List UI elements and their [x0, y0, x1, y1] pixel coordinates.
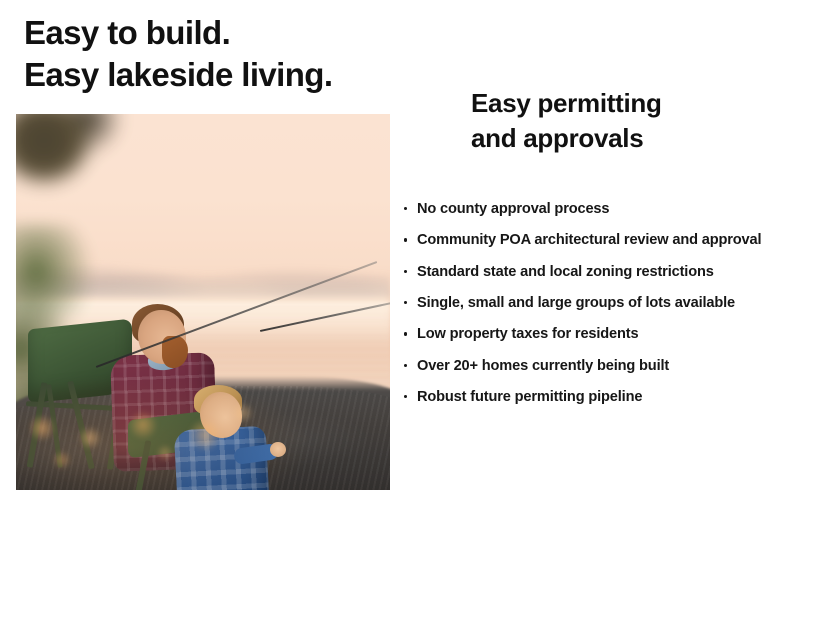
benefits-bullet-list: No county approval process Community POA…	[402, 198, 840, 417]
photo-lens-flare	[156, 444, 174, 462]
photo-lens-flare	[232, 402, 254, 424]
list-item: Robust future permitting pipeline	[402, 386, 840, 408]
photo-lens-flare	[52, 450, 72, 470]
photo-lens-flare	[128, 410, 158, 440]
photo-lens-flare	[28, 414, 56, 442]
list-item: No county approval process	[402, 198, 840, 220]
lakeside-fishing-photo	[16, 114, 390, 490]
section-heading: Easy permitting and approvals	[471, 86, 811, 157]
page-title-line-1: Easy to build.	[24, 12, 424, 54]
section-heading-line-2: and approvals	[471, 121, 811, 156]
list-item: Community POA architectural review and a…	[402, 229, 840, 251]
page-title: Easy to build. Easy lakeside living.	[24, 12, 424, 95]
list-item: Single, small and large groups of lots a…	[402, 292, 840, 314]
section-heading-line-1: Easy permitting	[471, 86, 811, 121]
list-item: Standard state and local zoning restrict…	[402, 261, 840, 283]
page-title-line-2: Easy lakeside living.	[24, 54, 424, 96]
photo-lens-flare	[188, 418, 222, 452]
slide-canvas: Easy to build. Easy lakeside living.	[0, 0, 840, 630]
photo-foliage-top-left	[16, 114, 122, 198]
photo-lens-flare	[78, 426, 102, 450]
list-item: Low property taxes for residents	[402, 323, 840, 345]
list-item: Over 20+ homes currently being built	[402, 355, 840, 377]
